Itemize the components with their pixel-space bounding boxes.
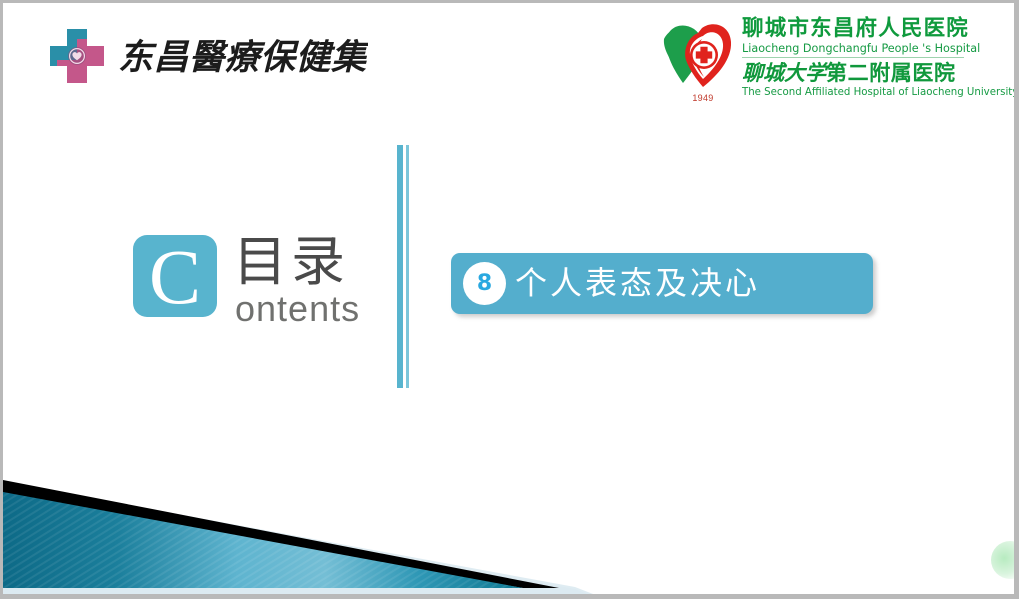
slide-canvas: 东昌醫療保健集團 (3, 3, 1014, 594)
heart-dove-cross-icon (658, 17, 744, 95)
group-logo-wordmark: 东昌醫療保健集團 (118, 29, 368, 83)
hospital-cn-name-secondary: 聊城大学第二附属医院 (742, 60, 968, 86)
hospital-cn-name-secondary-rest: 第二附属医院 (826, 61, 956, 85)
contents-title-cn: 目录 (233, 233, 349, 291)
contents-heading: C 目录 ontents (133, 235, 383, 333)
hospital-logo: 1949 聊城市东昌府人民医院 Liaocheng Dongchangfu Pe… (658, 17, 968, 109)
content-item-label: 个人表态及决心 (515, 259, 760, 307)
divider-bar-thin (406, 145, 409, 388)
medical-cross-icon (46, 25, 108, 87)
divider-bar-thick (397, 145, 403, 388)
hospital-en-name-secondary: The Second Affiliated Hospital of Liaoch… (742, 86, 968, 99)
group-logo-wordmark-text: 东昌醫療保健集團 (118, 37, 368, 78)
contents-title-en: ontents (235, 289, 360, 329)
group-logo: 东昌醫療保健集團 (46, 21, 366, 91)
hospital-name-block: 聊城市东昌府人民医院 Liaocheng Dongchangfu People … (742, 17, 968, 99)
hospital-cn-name-secondary-hand: 聊城大学 (742, 60, 826, 85)
content-item-number-badge: 8 (463, 262, 506, 305)
contents-initial-badge: C (133, 235, 217, 317)
hospital-cn-name-primary: 聊城市东昌府人民医院 (742, 17, 968, 41)
content-item-bar[interactable]: 8 个人表态及决心 (451, 253, 873, 314)
bottom-decoration (3, 474, 1014, 594)
slide-frame: 东昌醫療保健集團 (0, 0, 1019, 599)
hospital-founding-year: 1949 (680, 93, 726, 103)
hospital-en-name-primary: Liaocheng Dongchangfu People 's Hospital (742, 41, 964, 58)
